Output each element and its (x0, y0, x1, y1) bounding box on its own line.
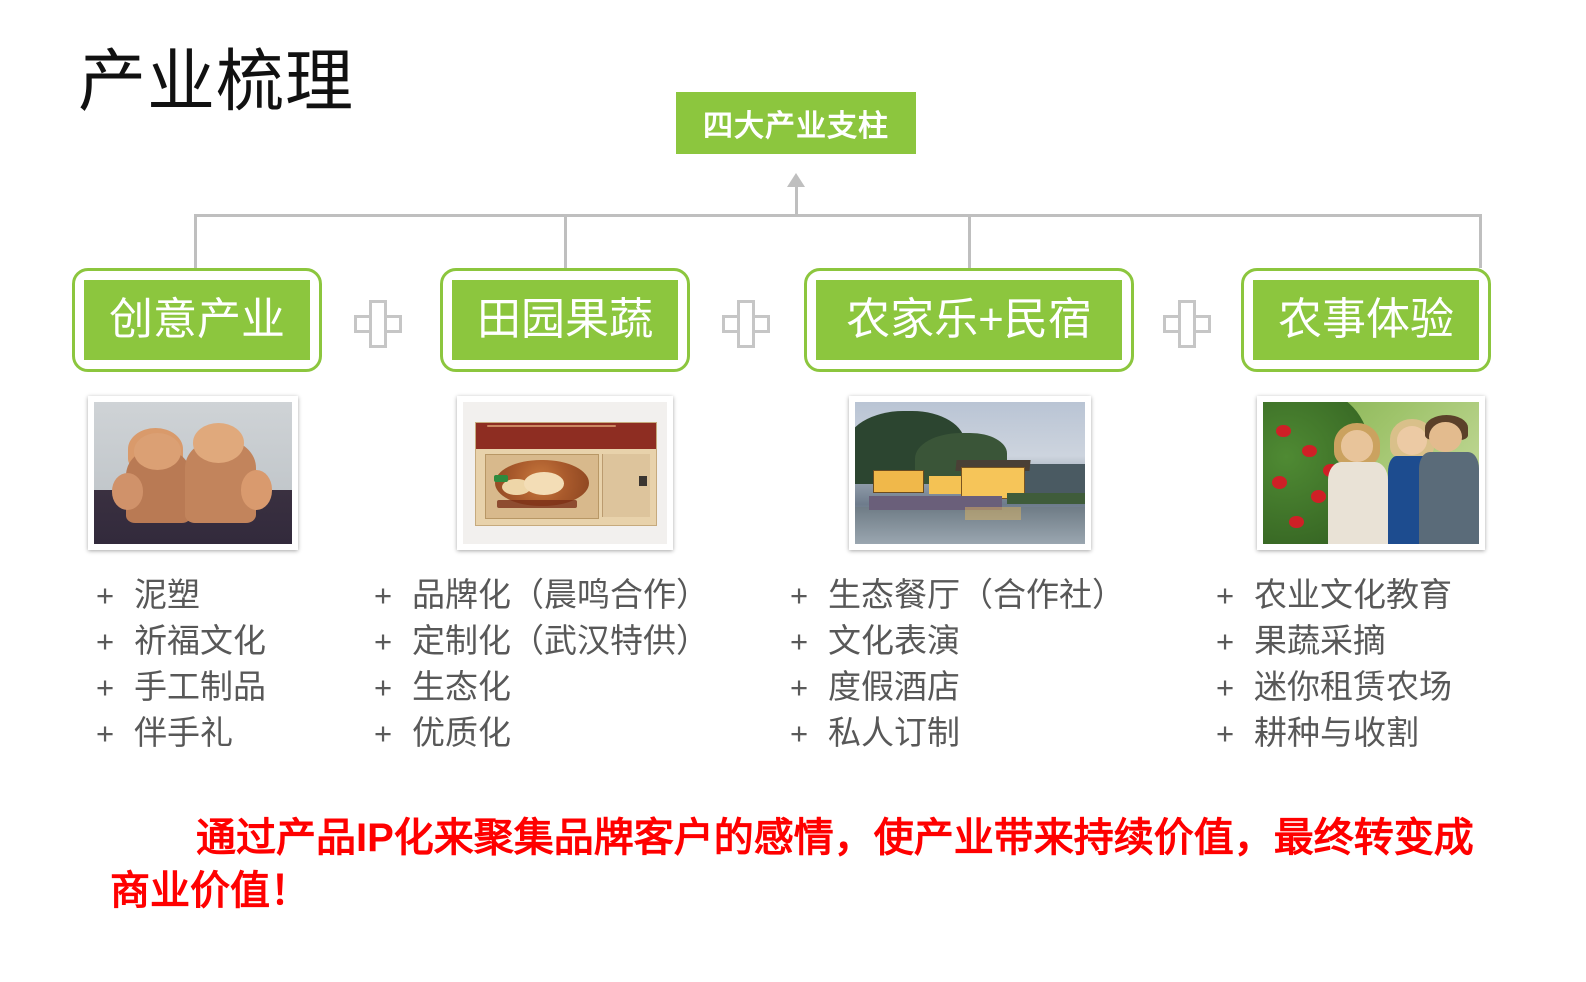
bullet-label: 农业文化教育 (1254, 578, 1452, 611)
bullet-marker: + (1216, 626, 1254, 657)
list-item: + 定制化（武汉特供） (374, 624, 709, 670)
connector-drop-2 (564, 214, 567, 268)
bullet-marker: + (1216, 672, 1254, 703)
list-item: + 品牌化（晨鸣合作） (374, 578, 709, 624)
bullet-label: 生态化 (412, 670, 511, 703)
plus-separator-3-icon (1163, 300, 1211, 348)
bullet-label: 品牌化（晨鸣合作） (412, 578, 709, 611)
bullet-label: 祈福文化 (134, 624, 266, 657)
bullet-label: 私人订制 (828, 716, 960, 749)
bullet-label: 定制化（武汉特供） (412, 624, 709, 657)
bullet-marker: + (96, 718, 134, 749)
bullet-label: 伴手礼 (134, 716, 233, 749)
bullet-list-1: + 泥塑 + 祈福文化 + 手工制品 + 伴手礼 (96, 578, 266, 762)
four-pillars-banner: 四大产业支柱 (676, 92, 916, 154)
lakeside-resort-photo (849, 396, 1091, 550)
page-title: 产业梳理 (78, 47, 354, 118)
local-specialty-giftbox-photo (457, 396, 673, 550)
connector-drop-1 (194, 214, 197, 268)
list-item: + 手工制品 (96, 670, 266, 716)
connector-horizontal-bar (194, 214, 1482, 217)
bullet-marker: + (96, 626, 134, 657)
pillar-label-1: 创意产业 (109, 298, 285, 342)
bullet-label: 果蔬采摘 (1254, 624, 1386, 657)
pillar-box-4[interactable]: 农事体验 (1241, 268, 1491, 372)
bullet-marker: + (790, 718, 828, 749)
bullet-list-4: + 农业文化教育 + 果蔬采摘 + 迷你租赁农场 + 耕种与收割 (1216, 578, 1452, 762)
pillar-label-4: 农事体验 (1278, 298, 1454, 342)
pillar-inner-4: 农事体验 (1253, 280, 1479, 360)
bullet-marker: + (790, 580, 828, 611)
connector-arrow-stem (795, 184, 798, 216)
plus-separator-2-icon (722, 300, 770, 348)
clay-sculpture-photo (88, 396, 298, 550)
bullet-marker: + (96, 580, 134, 611)
bullet-label: 度假酒店 (828, 670, 960, 703)
footer-conclusion-text: 通过产品IP化来聚集品牌客户的感情，使产业带来持续价值，最终转变成商业价值！ (110, 812, 1510, 918)
list-item: + 果蔬采摘 (1216, 624, 1452, 670)
list-item: + 优质化 (374, 716, 709, 762)
pillar-label-2: 田园果蔬 (477, 298, 653, 342)
list-item: + 私人订制 (790, 716, 1125, 762)
berry-picking-family-photo (1257, 396, 1485, 550)
bullet-label: 迷你租赁农场 (1254, 670, 1452, 703)
bullet-label: 耕种与收割 (1254, 716, 1419, 749)
pillar-box-3[interactable]: 农家乐+民宿 (804, 268, 1134, 372)
bullet-marker: + (374, 718, 412, 749)
bullet-label: 手工制品 (134, 670, 266, 703)
list-item: + 度假酒店 (790, 670, 1125, 716)
bullet-marker: + (96, 672, 134, 703)
connector-drop-3 (968, 214, 971, 268)
bullet-marker: + (374, 626, 412, 657)
bullet-marker: + (790, 672, 828, 703)
pillar-inner-1: 创意产业 (84, 280, 310, 360)
list-item: + 生态餐厅（合作社） (790, 578, 1125, 624)
bullet-marker: + (374, 672, 412, 703)
banner-label: 四大产业支柱 (703, 101, 889, 145)
list-item: + 泥塑 (96, 578, 266, 624)
list-item: + 祈福文化 (96, 624, 266, 670)
pillar-inner-2: 田园果蔬 (452, 280, 678, 360)
bullet-label: 生态餐厅（合作社） (828, 578, 1125, 611)
list-item: + 农业文化教育 (1216, 578, 1452, 624)
pillar-inner-3: 农家乐+民宿 (816, 280, 1122, 360)
list-item: + 伴手礼 (96, 716, 266, 762)
list-item: + 文化表演 (790, 624, 1125, 670)
pillar-box-2[interactable]: 田园果蔬 (440, 268, 690, 372)
slide-canvas: 产业梳理 四大产业支柱 创意产业 田园果蔬 农家乐+民宿 农事体验 (0, 0, 1586, 982)
pillar-box-1[interactable]: 创意产业 (72, 268, 322, 372)
list-item: + 迷你租赁农场 (1216, 670, 1452, 716)
connector-drop-4 (1479, 214, 1482, 268)
bullet-label: 泥塑 (134, 578, 200, 611)
list-item: + 耕种与收割 (1216, 716, 1452, 762)
bullet-label: 文化表演 (828, 624, 960, 657)
bullet-marker: + (1216, 580, 1254, 611)
bullet-marker: + (1216, 718, 1254, 749)
pillar-label-3: 农家乐+民宿 (846, 298, 1092, 342)
plus-separator-1-icon (354, 300, 402, 348)
bullet-marker: + (790, 626, 828, 657)
list-item: + 生态化 (374, 670, 709, 716)
bullet-list-3: + 生态餐厅（合作社） + 文化表演 + 度假酒店 + 私人订制 (790, 578, 1125, 762)
bullet-list-2: + 品牌化（晨鸣合作） + 定制化（武汉特供） + 生态化 + 优质化 (374, 578, 709, 762)
bullet-marker: + (374, 580, 412, 611)
bullet-label: 优质化 (412, 716, 511, 749)
